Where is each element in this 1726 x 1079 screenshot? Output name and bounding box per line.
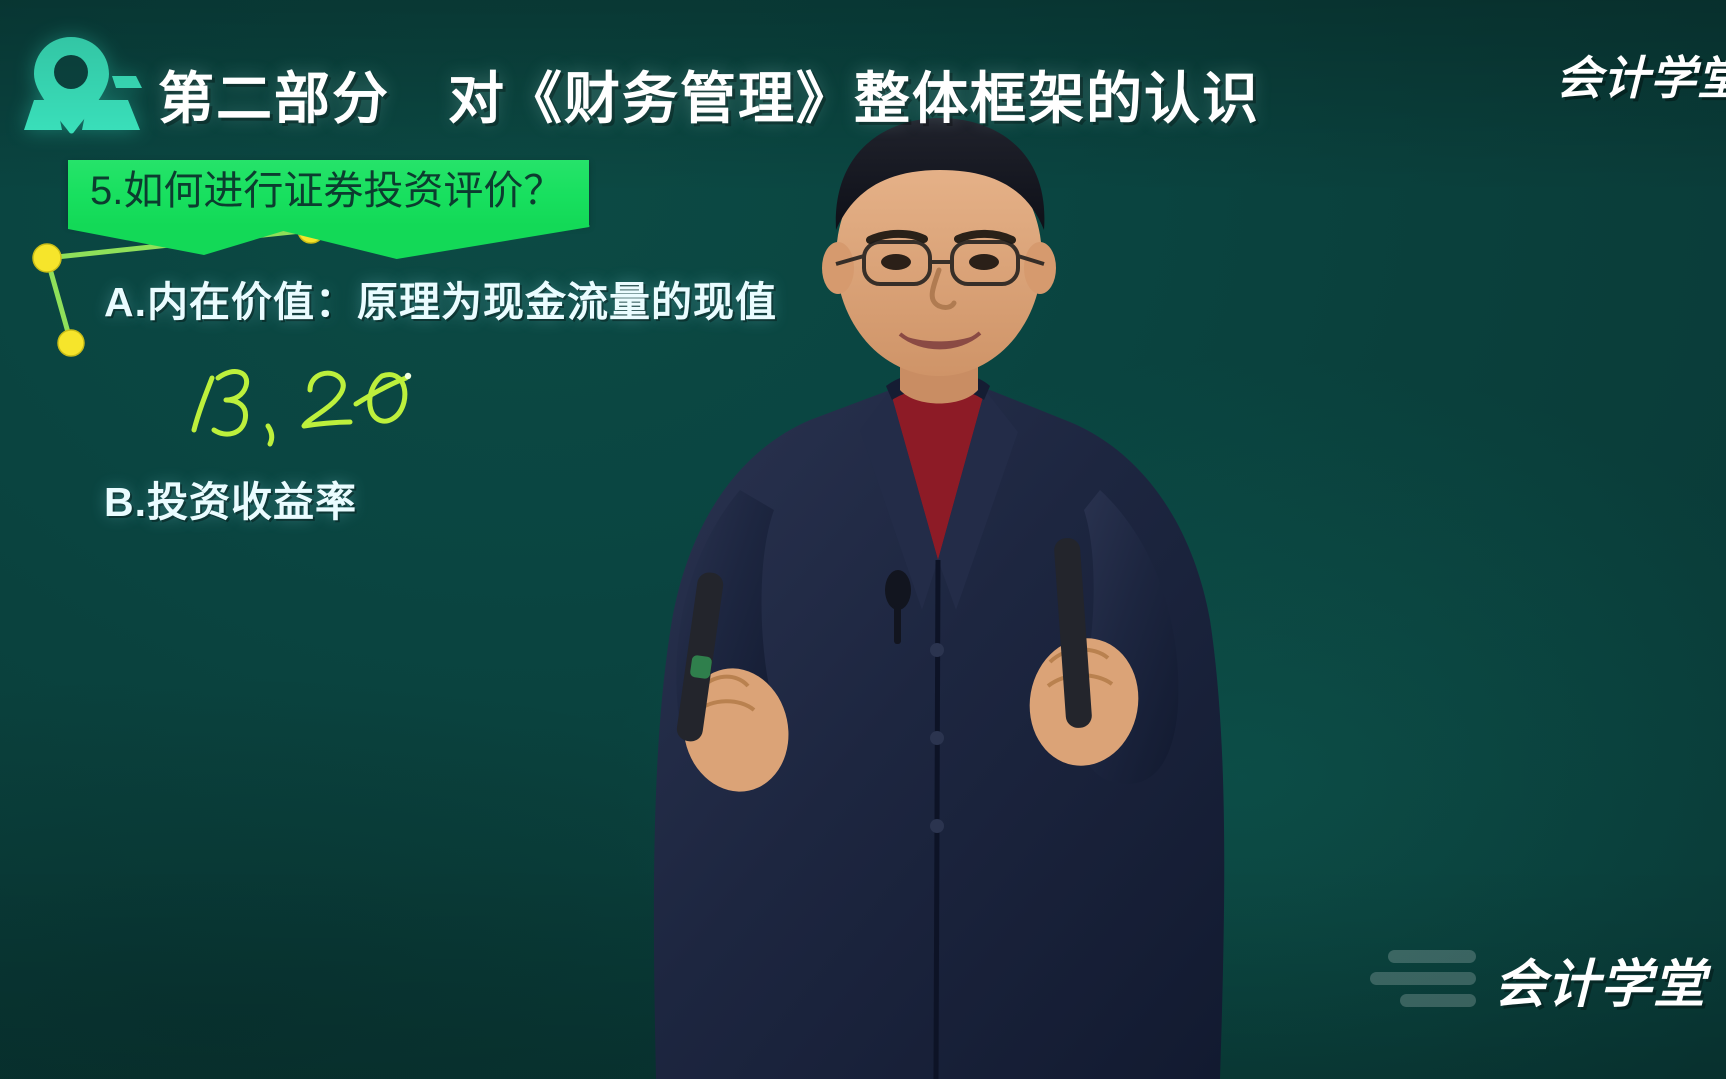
suit-buttons <box>930 643 944 833</box>
node-left-dot <box>33 244 61 272</box>
presenter-torso <box>654 371 1224 1079</box>
handwriting-highlight-dot <box>405 373 411 379</box>
presenter-arm-left <box>672 490 800 801</box>
bullet-item-b: B.投资收益率 <box>104 468 357 528</box>
marker-pen-left <box>675 571 724 743</box>
bullet-item-a: A.内在价值：原理为现金流量的现值 <box>104 268 777 328</box>
connector-edge-left-to-bottom <box>47 258 71 343</box>
lapel-mic-icon <box>885 570 911 644</box>
watermark-bottom: 会计学堂 <box>1494 942 1706 1017</box>
section-question-banner: 5.如何进行证券投资评价？ <box>68 160 589 225</box>
banner-tail-shape <box>68 225 589 263</box>
handwriting-annotation: 13、20 <box>150 330 450 450</box>
page-title: 第二部分 对《财务管理》整体框架的认识 <box>158 54 1260 135</box>
speed-lines-icon <box>1370 944 1480 1016</box>
node-bottom-dot <box>58 330 84 356</box>
presenter-head <box>822 118 1056 404</box>
presenter-figure <box>560 90 1300 1079</box>
location-pin-icon <box>16 34 144 144</box>
presenter-arm-right <box>1020 490 1179 784</box>
watermark-top: 会计学堂 <box>1556 42 1726 108</box>
banner-label: 5.如何进行证券投资评价？ <box>90 170 563 213</box>
slide-canvas: 第二部分 对《财务管理》整体框架的认识 5.如何进行证券投资评价？ A.内在价值… <box>0 0 1726 1079</box>
marker-pen-right <box>1053 537 1092 728</box>
banner-body: 5.如何进行证券投资评价？ <box>68 160 589 225</box>
watermark-bottom-group: 会计学堂 <box>1370 942 1706 1017</box>
